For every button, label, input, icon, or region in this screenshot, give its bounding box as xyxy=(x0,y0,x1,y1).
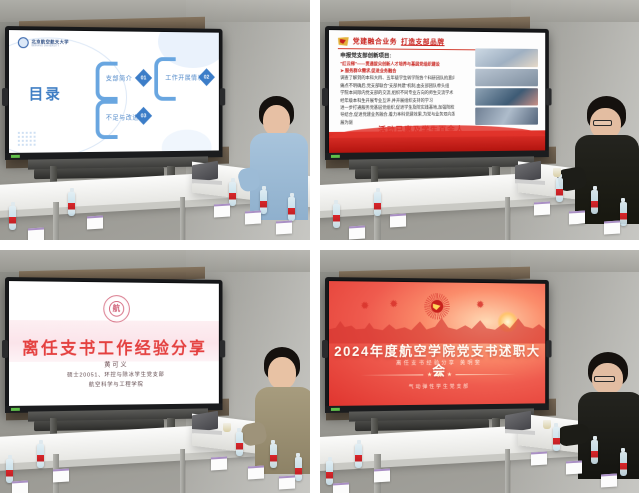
display-screen: 党建融合业务 打造支部品牌 申报党支部创新项目: "红云梯"——贯通拔尖创新人才… xyxy=(329,30,545,153)
water-bottle xyxy=(68,192,75,216)
name-plate xyxy=(390,213,406,227)
collage-panel-top-right: 党建融合业务 打造支部品牌 申报党支部创新项目: "红云梯"——贯通拔尖创新人才… xyxy=(320,0,639,240)
photo-collage: 北京航空航天大学 BEIHANG UNIVERSITY 目录 支部简介 01 工… xyxy=(0,0,639,493)
name-plate xyxy=(374,468,390,482)
dove-icon: ✹ xyxy=(360,301,369,312)
display-screen: 北京航空航天大学 BEIHANG UNIVERSITY 目录 支部简介 01 工… xyxy=(9,30,219,153)
presentation-display: 航 离任支书工作经验分享 黄可义 硕士20051、环控与除冰学生党支部 航空科学… xyxy=(5,277,223,413)
water-bottle xyxy=(553,427,560,451)
display-power-led-icon xyxy=(331,408,340,411)
person-attendee xyxy=(578,352,639,493)
display-screen: ✹ ✹ ✹ 2024年度航空学院党支书述职大会 离任支书经验分享 黄明斐 ★ ★… xyxy=(329,281,545,406)
dove-icon: ✹ xyxy=(389,299,398,310)
table-leg-2 xyxy=(505,197,510,240)
name-plate xyxy=(531,451,547,465)
person-head xyxy=(268,357,296,389)
university-seal-icon: 航 xyxy=(103,294,130,322)
water-bottle xyxy=(556,178,563,202)
water-bottle xyxy=(326,461,333,485)
toc-item-3-number: 03 xyxy=(134,108,151,126)
toc-item-2-number: 02 xyxy=(198,69,215,87)
body-line: 导结合,促进党建业务融合,着力本科党建效果,为党与业务双向发 xyxy=(340,111,454,119)
name-plate xyxy=(87,215,103,229)
slide-photo xyxy=(475,69,538,87)
name-plate xyxy=(349,225,365,239)
person-body xyxy=(250,133,307,219)
display-side-button-left[interactable] xyxy=(2,88,8,106)
slide-photo xyxy=(475,108,538,126)
display-power-led-icon xyxy=(11,408,20,411)
slide-title: 目录 xyxy=(28,83,61,104)
slide-org-lines: 硕士20051、环控与除冰学生党支部 航空科学与工程学院 xyxy=(9,370,219,391)
water-bottle xyxy=(260,190,267,214)
body-line: 学院本间际内党支部的交流,组织不同专业方向的师生交流学术 xyxy=(340,90,454,97)
toc-item-1-label: 支部简介 xyxy=(105,74,132,83)
university-logo: 北京航空航天大学 BEIHANG UNIVERSITY xyxy=(17,38,68,49)
water-bottle xyxy=(591,440,598,464)
slide-title-part1: 党建融合业务 xyxy=(353,37,397,47)
water-bottle xyxy=(591,190,598,214)
name-plate xyxy=(604,220,620,234)
slide-subtitle: 申报党支部创新项目: xyxy=(340,51,391,59)
name-plate xyxy=(53,468,69,482)
slide-conference-title: ✹ ✹ ✹ 2024年度航空学院党支书述职大会 离任支书经验分享 黄明斐 ★ ★… xyxy=(329,281,545,406)
divider-line-right xyxy=(456,374,516,375)
name-plate xyxy=(214,203,230,217)
water-bottle xyxy=(295,457,302,481)
star-icon: ★ xyxy=(447,371,452,378)
water-bottle xyxy=(229,182,236,206)
table-leg-1 xyxy=(53,202,59,240)
name-plate xyxy=(276,220,292,234)
table-leg-2 xyxy=(505,449,510,493)
water-bottle xyxy=(236,432,243,456)
toc-item-3-label: 不足与改进 xyxy=(105,113,138,122)
toc-item-1-number: 01 xyxy=(134,69,151,87)
paper-cup xyxy=(543,420,551,429)
water-bottle xyxy=(620,452,627,476)
collage-panel-top-left: 北京航空航天大学 BEIHANG UNIVERSITY 目录 支部简介 01 工… xyxy=(0,0,310,240)
name-plate xyxy=(245,211,261,225)
slide-decor-dots xyxy=(17,132,35,146)
display-side-button-right[interactable] xyxy=(220,340,225,357)
eyeglasses-icon xyxy=(593,120,612,126)
slide-org: 气动弹性学生党支部 xyxy=(329,382,545,391)
star-icon: ★ xyxy=(427,371,432,378)
water-bottle xyxy=(333,204,340,228)
slide-body-text: "红云梯"——贯通拔尖创新人才培养与基层党组织建设 ➤ 服务群众需求,促进业务融… xyxy=(340,60,454,126)
water-bottle xyxy=(620,202,627,226)
water-bottle xyxy=(355,444,362,468)
university-logo-icon xyxy=(17,38,28,49)
slide-experience-title: 航 离任支书工作经验分享 黄可义 硕士20051、环控与除冰学生党支部 航空科学… xyxy=(9,281,219,406)
slide-title-part2: 打造支部品牌 xyxy=(401,37,445,47)
name-plate xyxy=(566,461,582,475)
name-plate xyxy=(28,227,44,240)
name-plate xyxy=(534,201,550,215)
party-emblem-icon xyxy=(428,298,444,315)
slide-party-building: 党建融合业务 打造支部品牌 申报党支部创新项目: "红云梯"——贯通拔尖创新人才… xyxy=(329,30,545,153)
water-bottle xyxy=(374,192,381,216)
collage-panel-bottom-right: ✹ ✹ ✹ 2024年度航空学院党支书述职大会 离任支书经验分享 黄明斐 ★ ★… xyxy=(320,250,639,493)
slide-presenter-name: 黄可义 xyxy=(9,358,219,369)
eyeglasses-icon xyxy=(594,376,615,382)
water-bottle xyxy=(6,459,13,483)
name-plate xyxy=(601,473,617,487)
university-logo-subtitle: BEIHANG UNIVERSITY xyxy=(31,45,68,47)
name-plate xyxy=(12,480,28,493)
name-plate xyxy=(569,211,585,225)
slide-subtitle: 离任支书经验分享 黄明斐 xyxy=(329,358,545,367)
emblem-core xyxy=(430,300,442,313)
slide-table-of-contents: 北京航空航天大学 BEIHANG UNIVERSITY 目录 支部简介 01 工… xyxy=(9,30,219,153)
name-plate xyxy=(333,483,349,493)
name-plate xyxy=(279,475,295,489)
slide-org-line-2: 航空科学与工程学院 xyxy=(9,379,219,391)
name-plate xyxy=(248,466,264,480)
presentation-display: ✹ ✹ ✹ 2024年度航空学院党支书述职大会 离任支书经验分享 黄明斐 ★ ★… xyxy=(325,277,549,413)
display-side-button-left[interactable] xyxy=(322,339,328,357)
presentation-display: 北京航空航天大学 BEIHANG UNIVERSITY 目录 支部简介 01 工… xyxy=(5,26,223,160)
display-screen: 航 离任支书工作经验分享 黄可义 硕士20051、环控与除冰学生党支部 航空科学… xyxy=(9,281,219,406)
divider-line-left xyxy=(360,374,423,375)
slide-photo xyxy=(475,88,538,106)
party-flag-icon xyxy=(338,37,349,46)
person-head xyxy=(263,105,290,137)
star-icon: ★ xyxy=(436,369,443,380)
water-bottle xyxy=(9,206,16,230)
slide-photo-strip xyxy=(475,49,538,126)
display-side-button-left[interactable] xyxy=(2,339,8,357)
university-logo-text-block: 北京航空航天大学 BEIHANG UNIVERSITY xyxy=(31,40,68,48)
water-bottle xyxy=(37,444,44,468)
table-leg-2 xyxy=(180,449,185,493)
display-side-button-left[interactable] xyxy=(322,88,328,106)
collage-panel-bottom-left: 航 离任支书工作经验分享 黄可义 硕士20051、环控与除冰学生党支部 航空科学… xyxy=(0,250,310,493)
slide-title: 离任支书工作经验分享 xyxy=(9,333,219,358)
display-side-button-right[interactable] xyxy=(546,340,551,357)
water-bottle xyxy=(270,444,277,468)
water-bottle xyxy=(288,197,295,221)
paper-cup xyxy=(553,168,561,177)
presentation-display: 党建融合业务 打造支部品牌 申报党支部创新项目: "红云梯"——贯通拔尖创新人才… xyxy=(325,26,549,160)
slide-photo xyxy=(475,49,538,67)
name-plate xyxy=(211,456,227,470)
slide-star-divider: ★ ★ ★ xyxy=(360,370,516,380)
table-leg-2 xyxy=(180,197,185,240)
dove-icon: ✹ xyxy=(476,300,485,311)
display-side-button-right[interactable] xyxy=(546,88,551,105)
paper-cup xyxy=(223,423,231,432)
display-side-button-right[interactable] xyxy=(220,88,225,105)
